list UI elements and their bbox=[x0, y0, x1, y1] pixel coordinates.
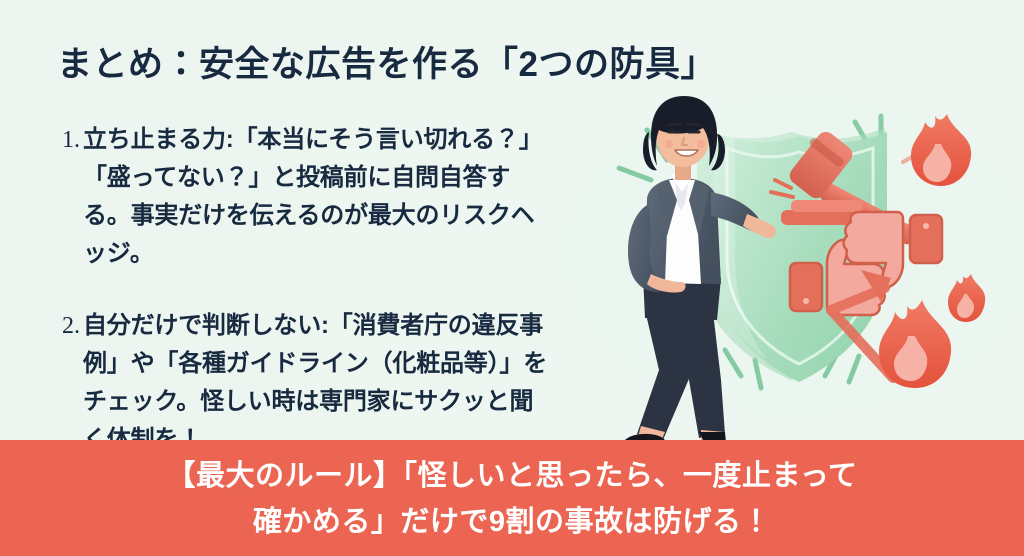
flame-icon-small bbox=[948, 274, 985, 322]
flame-icon-top bbox=[911, 114, 971, 186]
points-list: 1. 立ち止まる力:「本当にそう言い切れる？」「盛ってない？」と投稿前に自問自答… bbox=[62, 121, 557, 493]
list-item-text: 立ち止まる力:「本当にそう言い切れる？」「盛ってない？」と投稿前に自問自答する。… bbox=[83, 121, 557, 273]
list-item: 2. 自分だけで判断しない:「消費者庁の違反事例」や「各種ガイドライン（化粧品等… bbox=[62, 307, 557, 459]
flame-icon-bottom bbox=[879, 300, 951, 388]
banner-line-2: 確かめる」だけで9割の事故は防げる！ bbox=[253, 499, 771, 545]
slide-canvas: まとめ：安全な広告を作る「2つの防具」 1. 立ち止まる力:「本当にそう言い切れ… bbox=[0, 0, 1024, 556]
list-item: 1. 立ち止まる力:「本当にそう言い切れる？」「盛ってない？」と投稿前に自問自答… bbox=[62, 121, 557, 273]
banner-line-1: 【最大のルール】「怪しいと思ったら、一度止まって bbox=[167, 453, 858, 499]
list-item-text: 自分だけで判断しない:「消費者庁の違反事例」や「各種ガイドライン（化粧品等）」を… bbox=[83, 307, 557, 459]
illustration bbox=[585, 88, 1024, 456]
page-title: まとめ：安全な広告を作る「2つの防具」 bbox=[57, 36, 716, 87]
list-item-number: 2. bbox=[62, 307, 83, 345]
list-item-number: 1. bbox=[62, 121, 83, 159]
bottom-banner: 【最大のルール】「怪しいと思ったら、一度止まって 確かめる」だけで9割の事故は防… bbox=[0, 440, 1024, 556]
